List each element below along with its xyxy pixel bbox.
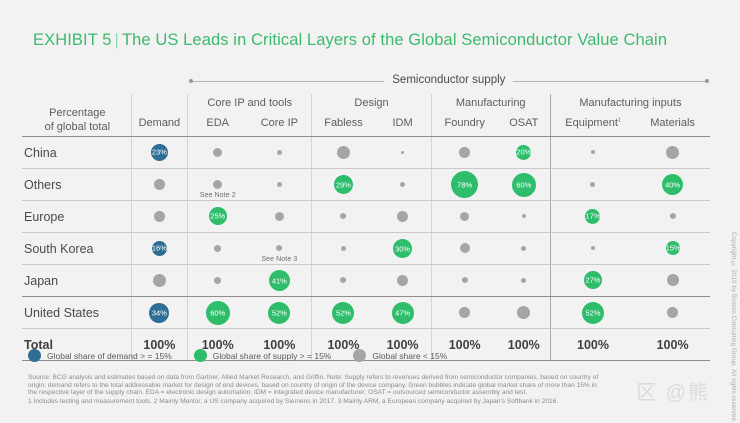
bubble-cell	[635, 297, 710, 328]
col-demand: Demand	[131, 114, 188, 136]
row-label: Europe	[22, 201, 131, 232]
share-bubble: 52%	[332, 302, 354, 324]
corner-label-line2: of global total	[24, 120, 131, 134]
value-chain-table: Semiconductor supply Percentage of globa…	[22, 72, 710, 361]
share-bubble	[214, 277, 221, 284]
title-headline: The US Leads in Critical Layers of the G…	[122, 31, 667, 49]
share-bubble	[521, 246, 526, 251]
bubble-cell: 34%	[131, 297, 188, 328]
share-bubble	[459, 307, 470, 318]
legend: Global share of demand > = 15%Global sha…	[28, 349, 469, 362]
share-bubble	[666, 146, 679, 159]
bubble-cell: 40%	[635, 169, 710, 200]
share-bubble	[214, 245, 221, 252]
share-bubble	[276, 245, 282, 251]
col-eda: EDA	[188, 114, 248, 136]
source-line-3: the respective layer of the supply chain…	[28, 389, 698, 397]
table-row: China23%20%	[22, 137, 710, 168]
share-bubble: 34%	[149, 303, 169, 323]
share-bubble	[397, 211, 408, 222]
share-bubble	[341, 246, 346, 251]
col-equipment-label: Equipment	[565, 117, 618, 129]
total-cell: 100%	[550, 329, 635, 360]
group-header-row: Percentage of global total Core IP and t…	[22, 94, 710, 114]
bubble-cell	[431, 201, 498, 232]
bubble-value: 20%	[516, 149, 531, 157]
bubble-cell: 60%	[498, 169, 551, 200]
share-bubble	[590, 182, 595, 187]
bubble-cell	[375, 201, 432, 232]
share-bubble	[337, 146, 350, 159]
share-bubble	[397, 275, 408, 286]
exhibit-number: EXHIBIT 5	[33, 31, 112, 49]
share-bubble	[521, 278, 526, 283]
legend-dot-icon	[194, 349, 207, 362]
bubble-cell	[312, 137, 375, 168]
bubble-value: 17%	[585, 213, 600, 221]
share-bubble	[340, 213, 346, 219]
share-bubble	[591, 246, 595, 250]
bubble-value: 52%	[582, 309, 604, 317]
share-bubble	[275, 212, 284, 221]
source-note: Source: BCG analysis and estimates based…	[28, 374, 698, 405]
bubble-value: 52%	[268, 309, 290, 317]
bubble-cell	[375, 265, 432, 296]
legend-label: Global share of demand > = 15%	[47, 351, 172, 361]
table-row: United States34%60%52%52%47%52%	[22, 297, 710, 328]
bubble-cell	[312, 233, 375, 264]
share-bubble	[401, 151, 404, 154]
bubble-cell	[431, 233, 498, 264]
bubble-cell	[498, 297, 551, 328]
col-fabless: Fabless	[312, 114, 375, 136]
bubble-cell: See Note 225%	[188, 201, 248, 232]
table-row: Others29%78%60%40%	[22, 169, 710, 200]
bubble-value: 25%	[209, 213, 227, 221]
bubble-cell	[188, 233, 248, 264]
page-title: EXHIBIT 5|The US Leads in Critical Layer…	[33, 31, 667, 50]
corner-label-line1: Percentage	[24, 106, 131, 120]
bubble-cell	[188, 137, 248, 168]
bubble-value: 41%	[269, 277, 290, 285]
bubble-value: 27%	[584, 277, 602, 285]
share-bubble: 78%	[451, 171, 478, 198]
share-bubble	[459, 147, 470, 158]
share-bubble	[591, 150, 595, 154]
bubble-cell: 29%	[312, 169, 375, 200]
share-bubble: 60%	[512, 173, 536, 197]
col-foundry: Foundry	[431, 114, 498, 136]
legend-dot-icon	[353, 349, 366, 362]
table-body: China23%20%Others29%78%60%40%EuropeSee N…	[22, 137, 710, 361]
table-row: South Korea16%30%15%	[22, 233, 710, 264]
bubble-cell	[431, 137, 498, 168]
share-bubble	[522, 214, 526, 218]
bubble-cell	[247, 169, 312, 200]
supply-group-header: Semiconductor supply	[188, 72, 710, 94]
legend-label: Global share of supply > = 15%	[213, 351, 332, 361]
share-bubble: 41%	[269, 270, 290, 291]
bubble-value: 78%	[451, 181, 478, 189]
group-design: Design	[312, 94, 431, 114]
bubble-cell: 60%	[188, 297, 248, 328]
share-bubble: 30%	[393, 239, 412, 258]
supply-band-row: Semiconductor supply	[22, 72, 710, 94]
bubble-value: 60%	[512, 181, 536, 189]
share-bubble	[277, 150, 282, 155]
bubble-cell	[188, 265, 248, 296]
source-line-1: Source: BCG analysis and estimates based…	[28, 374, 698, 382]
bubble-value: 34%	[149, 309, 169, 317]
bubble-cell: 47%	[375, 297, 432, 328]
share-bubble: 15%	[666, 241, 680, 255]
bubble-cell	[312, 201, 375, 232]
bubble-cell	[375, 169, 432, 200]
group-core-ip-tools: Core IP and tools	[188, 94, 312, 114]
row-label: China	[22, 137, 131, 168]
bubble-cell	[498, 201, 551, 232]
share-bubble	[213, 180, 222, 189]
share-bubble: 47%	[392, 302, 414, 324]
bubble-cell	[131, 201, 188, 232]
bubble-cell: 23%	[131, 137, 188, 168]
exhibit-slide: EXHIBIT 5|The US Leads in Critical Layer…	[0, 0, 740, 421]
share-bubble: 23%	[151, 144, 168, 161]
bubble-cell	[635, 201, 710, 232]
bubble-cell: 17%	[550, 201, 635, 232]
copyright-text: Copyright © 2019 by Boston Consulting Gr…	[730, 232, 736, 423]
bubble-cell	[247, 201, 312, 232]
share-bubble	[667, 307, 678, 318]
bubble-cell	[431, 265, 498, 296]
bubble-cell	[247, 137, 312, 168]
share-bubble: 52%	[268, 302, 290, 324]
row-label: Others	[22, 169, 131, 200]
spacer-demand	[131, 72, 188, 94]
col-materials: Materials	[635, 114, 710, 136]
cell-note: See Note 2	[188, 192, 247, 199]
share-bubble	[213, 148, 222, 157]
legend-dot-icon	[28, 349, 41, 362]
bubble-value: 30%	[393, 245, 412, 253]
row-label: Japan	[22, 265, 131, 296]
equipment-footnote-marker: 1	[618, 117, 621, 123]
bubble-cell	[550, 233, 635, 264]
bubble-value: 60%	[206, 309, 230, 317]
bubble-cell: 20%	[498, 137, 551, 168]
bubble-value: 40%	[662, 181, 683, 189]
share-bubble	[340, 277, 346, 283]
title-divider: |	[112, 31, 122, 49]
bubble-cell	[375, 137, 432, 168]
col-osat: OSAT	[498, 114, 551, 136]
bubble-value: 47%	[392, 309, 414, 317]
table: Semiconductor supply Percentage of globa…	[22, 72, 710, 361]
bubble-cell: 52%	[247, 297, 312, 328]
supply-group-label: Semiconductor supply	[384, 74, 513, 86]
group-manufacturing-inputs: Manufacturing inputs	[550, 94, 710, 114]
share-bubble	[277, 182, 282, 187]
bubble-value: 23%	[151, 149, 168, 157]
bubble-cell	[431, 297, 498, 328]
col-core-ip: Core IP	[247, 114, 312, 136]
legend-small: Global share < 15%	[353, 349, 447, 362]
bubble-cell: 27%	[550, 265, 635, 296]
spacer-corner	[22, 72, 131, 94]
source-line-2: origin; demand refers to the total addre…	[28, 382, 698, 390]
share-bubble	[670, 213, 676, 219]
cell-note: See Note 3	[247, 256, 311, 263]
bubble-value: 52%	[332, 309, 354, 317]
bubble-value: 29%	[334, 181, 353, 189]
bubble-cell: 16%	[131, 233, 188, 264]
bubble-cell	[550, 169, 635, 200]
bubble-cell: 52%	[550, 297, 635, 328]
share-bubble	[517, 306, 530, 319]
bubble-cell: 52%	[312, 297, 375, 328]
bubble-cell: 78%	[431, 169, 498, 200]
col-idm: IDM	[375, 114, 432, 136]
share-bubble: 25%	[209, 207, 227, 225]
share-bubble: 60%	[206, 301, 230, 325]
group-manufacturing: Manufacturing	[431, 94, 550, 114]
share-bubble	[462, 277, 468, 283]
bubble-cell	[131, 265, 188, 296]
corner-label: Percentage of global total	[22, 94, 131, 136]
share-bubble: 52%	[582, 302, 604, 324]
total-cell: 100%	[498, 329, 551, 360]
bubble-cell: See Note 341%	[247, 265, 312, 296]
share-bubble	[460, 243, 470, 253]
bubble-cell	[550, 137, 635, 168]
bubble-cell	[312, 265, 375, 296]
col-equipment: Equipment1	[550, 114, 635, 136]
bubble-cell	[635, 265, 710, 296]
source-footnotes: 1 Includes testing and measurement tools…	[28, 398, 698, 406]
total-cell: 100%	[635, 329, 710, 360]
bubble-value: 15%	[666, 245, 680, 253]
share-bubble	[154, 211, 165, 222]
share-bubble	[154, 179, 165, 190]
group-spacer-demand	[131, 94, 188, 114]
share-bubble	[667, 274, 679, 286]
share-bubble: 27%	[584, 271, 602, 289]
bubble-cell	[498, 233, 551, 264]
share-bubble: 17%	[585, 209, 600, 224]
share-bubble	[400, 182, 405, 187]
table-row: JapanSee Note 341%27%	[22, 265, 710, 296]
bubble-cell: 30%	[375, 233, 432, 264]
row-label: United States	[22, 297, 131, 328]
share-bubble: 16%	[152, 241, 167, 256]
bubble-cell	[635, 137, 710, 168]
bubble-cell	[131, 169, 188, 200]
share-bubble: 40%	[662, 174, 683, 195]
share-bubble: 29%	[334, 175, 353, 194]
table-row: EuropeSee Note 225%17%	[22, 201, 710, 232]
row-label: South Korea	[22, 233, 131, 264]
legend-demand: Global share of demand > = 15%	[28, 349, 172, 362]
legend-supply: Global share of supply > = 15%	[194, 349, 332, 362]
bubble-cell: 15%	[635, 233, 710, 264]
legend-label: Global share < 15%	[372, 351, 447, 361]
share-bubble: 20%	[516, 145, 531, 160]
bubble-cell	[498, 265, 551, 296]
share-bubble	[153, 274, 166, 287]
bubble-value: 16%	[152, 245, 167, 253]
share-bubble	[460, 212, 469, 221]
